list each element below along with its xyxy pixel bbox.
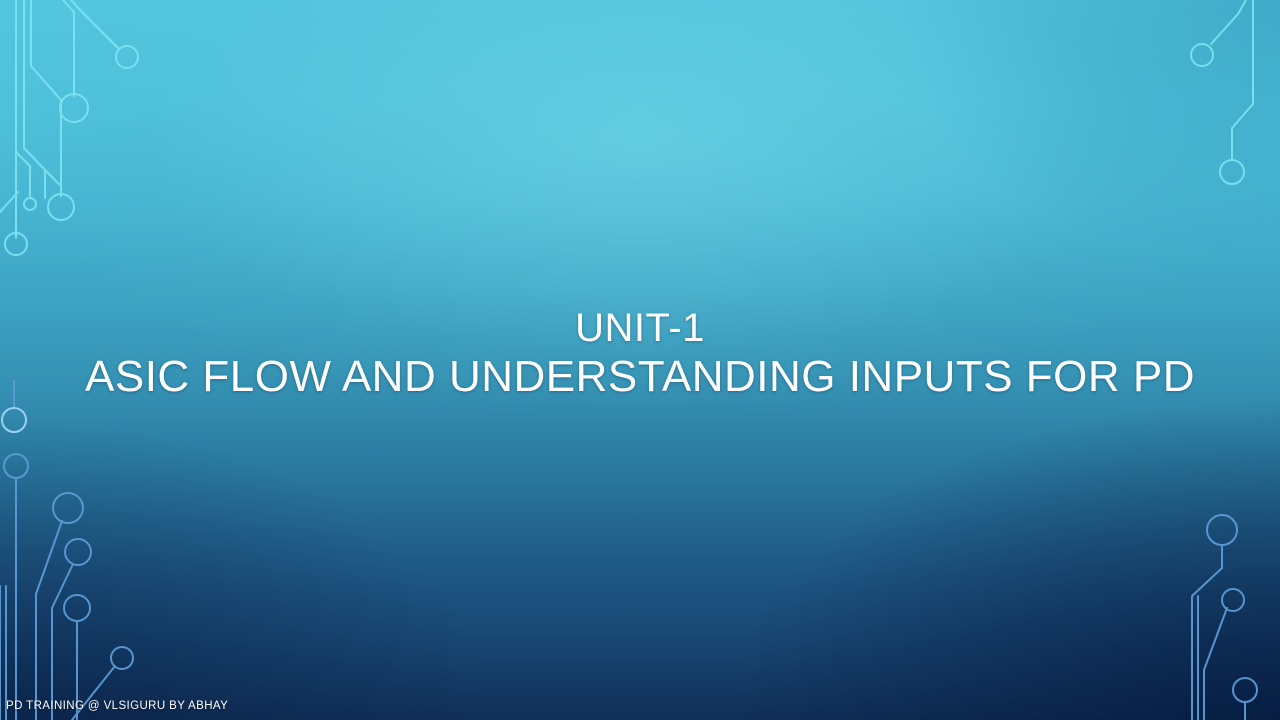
title-line-unit: UNIT-1 <box>0 305 1280 351</box>
slide-title: UNIT-1 ASIC FLOW AND UNDERSTANDING INPUT… <box>0 305 1280 402</box>
title-line-subject: ASIC FLOW AND UNDERSTANDING INPUTS FOR P… <box>0 351 1280 402</box>
presentation-slide: UNIT-1 ASIC FLOW AND UNDERSTANDING INPUT… <box>0 0 1280 720</box>
slide-footer: PD TRAINING @ VLSIGURU BY ABHAY <box>6 700 228 712</box>
